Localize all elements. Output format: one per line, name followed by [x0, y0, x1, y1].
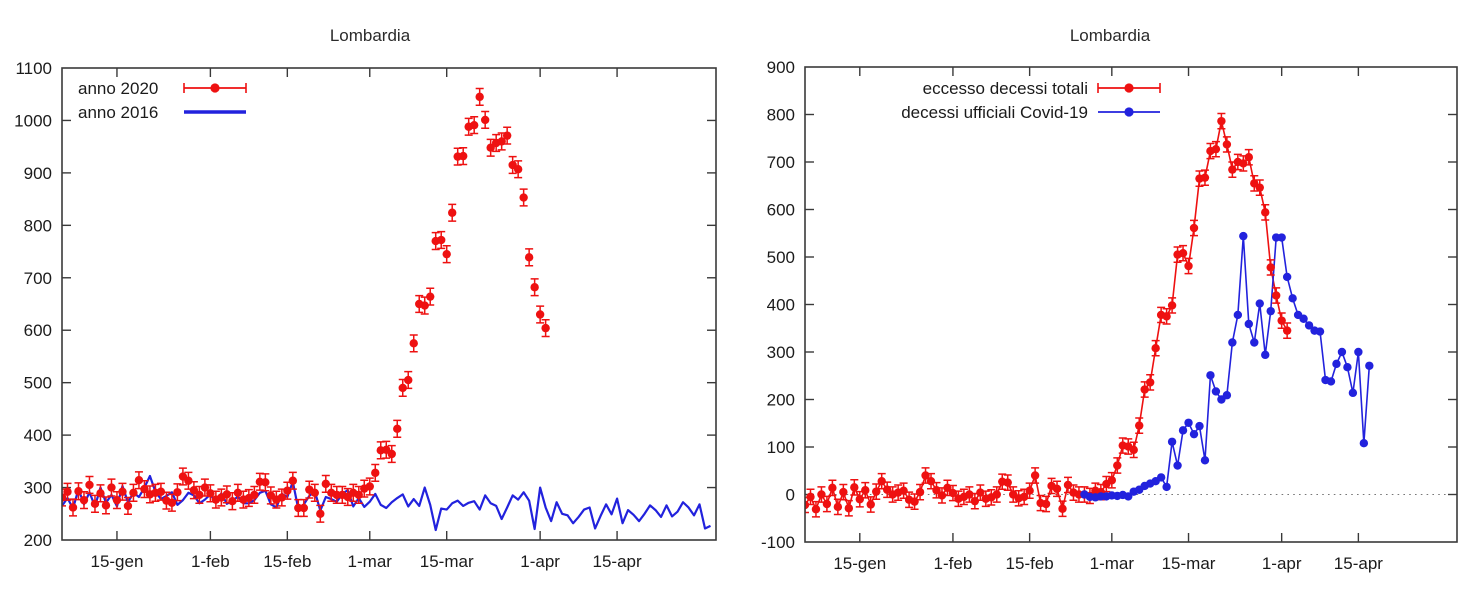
data-point — [1288, 294, 1296, 302]
data-point — [1365, 362, 1373, 370]
x-tick-label: 15-mar — [420, 552, 474, 571]
data-point — [1261, 208, 1269, 216]
x-tick-label: 1-apr — [520, 552, 560, 571]
y-tick-label: 800 — [767, 106, 795, 125]
data-point — [1157, 473, 1165, 481]
data-point — [1201, 173, 1209, 181]
data-point — [867, 500, 875, 508]
chart-panel-right: Lombardia -10001002003004005006007008009… — [740, 0, 1480, 610]
data-point — [261, 478, 269, 486]
data-point — [206, 489, 214, 497]
x-tick-label: 15-gen — [90, 552, 143, 571]
legend-label: anno 2020 — [78, 79, 158, 98]
data-point — [1212, 387, 1220, 395]
data-point — [426, 292, 434, 300]
data-point — [828, 484, 836, 492]
data-point — [129, 489, 137, 497]
data-point — [1179, 249, 1187, 257]
legend-key-marker — [1124, 107, 1133, 116]
data-point — [371, 469, 379, 477]
data-point — [525, 253, 533, 261]
data-point — [366, 482, 374, 490]
data-point — [1256, 299, 1264, 307]
data-point — [1316, 327, 1324, 335]
data-point — [1272, 291, 1280, 299]
data-point — [519, 193, 527, 201]
data-point — [80, 496, 88, 504]
data-point — [1283, 326, 1291, 334]
data-point — [965, 490, 973, 498]
data-point — [1201, 456, 1209, 464]
data-point — [234, 489, 242, 497]
data-point — [1354, 348, 1362, 356]
data-point — [316, 510, 324, 518]
data-point — [823, 500, 831, 508]
data-point — [850, 483, 858, 491]
legend-key-marker — [210, 83, 219, 92]
data-point — [118, 488, 126, 496]
data-point — [536, 310, 544, 318]
plot-area-right: -100010020030040050060070080090015-gen1-… — [740, 0, 1480, 610]
y-tick-label: 500 — [767, 248, 795, 267]
data-point — [437, 236, 445, 244]
data-point — [910, 497, 918, 505]
series-line — [1084, 236, 1369, 497]
data-point — [1349, 389, 1357, 397]
data-point — [184, 477, 192, 485]
data-point — [355, 491, 363, 499]
x-tick-label: 1-mar — [1090, 554, 1135, 573]
data-point — [993, 490, 1001, 498]
data-point — [1151, 344, 1159, 352]
data-point — [834, 503, 842, 511]
y-tick-label: 600 — [24, 321, 52, 340]
data-point — [481, 116, 489, 124]
data-point — [1004, 478, 1012, 486]
data-point — [530, 283, 538, 291]
data-point — [1338, 348, 1346, 356]
legend-key-marker — [1124, 83, 1133, 92]
data-point — [448, 209, 456, 217]
data-point — [470, 121, 478, 129]
y-tick-label: 900 — [767, 58, 795, 77]
data-point — [393, 425, 401, 433]
y-tick-label: 300 — [767, 343, 795, 362]
data-point — [1025, 487, 1033, 495]
y-tick-label: 700 — [24, 269, 52, 288]
data-point — [1277, 233, 1285, 241]
chart-legend: eccesso decessi totalidecessi ufficiali … — [901, 79, 1160, 122]
data-point — [1239, 232, 1247, 240]
data-point — [817, 490, 825, 498]
data-point — [1245, 153, 1253, 161]
data-point — [107, 483, 115, 491]
data-point — [91, 500, 99, 508]
data-point — [1058, 505, 1066, 513]
data-point — [278, 493, 286, 501]
y-tick-label: 300 — [24, 479, 52, 498]
data-point — [1267, 307, 1275, 315]
data-point — [223, 490, 231, 498]
x-tick-label: 15-apr — [593, 552, 642, 571]
y-tick-label: 700 — [767, 153, 795, 172]
data-point — [1173, 461, 1181, 469]
y-tick-label: 1100 — [15, 59, 52, 78]
data-point — [503, 131, 511, 139]
data-point — [1195, 422, 1203, 430]
data-point — [1228, 338, 1236, 346]
data-point — [1179, 426, 1187, 434]
axis-frame — [62, 68, 716, 540]
data-point — [839, 488, 847, 496]
data-point — [85, 481, 93, 489]
data-point — [1108, 476, 1116, 484]
x-tick-label: 1-feb — [191, 552, 230, 571]
y-tick-label: 200 — [767, 391, 795, 410]
y-tick-label: 100 — [767, 438, 795, 457]
data-point — [69, 503, 77, 511]
data-point — [1299, 315, 1307, 323]
data-point — [250, 491, 258, 499]
y-tick-label: 0 — [786, 486, 795, 505]
data-point — [1245, 320, 1253, 328]
data-point — [1168, 301, 1176, 309]
x-tick-label: 15-gen — [833, 554, 886, 573]
data-point — [1042, 500, 1050, 508]
data-point — [878, 477, 886, 485]
series-line — [805, 121, 1287, 509]
data-point — [1031, 471, 1039, 479]
x-tick-label: 15-apr — [1334, 554, 1383, 573]
data-point — [1146, 378, 1154, 386]
data-point — [899, 487, 907, 495]
y-tick-label: 200 — [24, 531, 52, 550]
data-point — [1283, 273, 1291, 281]
data-point — [861, 486, 869, 494]
x-tick-label: 1-feb — [934, 554, 973, 573]
data-point — [124, 502, 132, 510]
data-point — [102, 501, 110, 509]
data-point — [1360, 439, 1368, 447]
data-point — [916, 488, 924, 496]
data-point — [1234, 311, 1242, 319]
data-point — [806, 493, 814, 501]
data-point — [1261, 351, 1269, 359]
data-point — [311, 489, 319, 497]
data-point — [1250, 338, 1258, 346]
dual-chart-figure: Lombardia 200300400500600700800900100011… — [0, 0, 1480, 610]
data-point — [1223, 140, 1231, 148]
data-point — [1267, 263, 1275, 271]
x-tick-label: 15-feb — [1006, 554, 1054, 573]
data-point — [1206, 371, 1214, 379]
chart-legend: anno 2020anno 2016 — [78, 79, 246, 122]
y-tick-label: 500 — [24, 374, 52, 393]
x-tick-label: 1-mar — [348, 552, 393, 571]
data-point — [1343, 363, 1351, 371]
x-tick-label: 15-feb — [263, 552, 311, 571]
data-point — [1190, 430, 1198, 438]
data-point — [1332, 360, 1340, 368]
data-point — [1327, 377, 1335, 385]
data-point — [63, 488, 71, 496]
data-point — [283, 487, 291, 495]
data-point — [514, 165, 522, 173]
x-tick-label: 15-mar — [1162, 554, 1216, 573]
data-point — [856, 495, 864, 503]
y-tick-label: 900 — [24, 164, 52, 183]
data-point — [1168, 438, 1176, 446]
y-tick-label: 400 — [767, 296, 795, 315]
axis-frame — [805, 67, 1457, 542]
series-group — [801, 114, 1374, 517]
data-point — [1190, 224, 1198, 232]
data-point — [927, 477, 935, 485]
chart-panel-left: Lombardia 200300400500600700800900100011… — [0, 0, 740, 610]
data-point — [1130, 446, 1138, 454]
legend-label: anno 2016 — [78, 103, 158, 122]
legend-label: decessi ufficiali Covid-19 — [901, 103, 1088, 122]
legend-label: eccesso decessi totali — [923, 79, 1088, 98]
series-group — [58, 88, 711, 530]
plot-area-left: 2003004005006007008009001000110015-gen1-… — [0, 0, 740, 610]
data-point — [173, 488, 181, 496]
data-point — [1223, 391, 1231, 399]
y-tick-label: 400 — [24, 426, 52, 445]
y-tick-label: 600 — [767, 201, 795, 220]
data-point — [1212, 145, 1220, 153]
data-point — [195, 491, 203, 499]
data-point — [541, 324, 549, 332]
data-point — [1113, 461, 1121, 469]
data-point — [410, 339, 418, 347]
data-point — [459, 152, 467, 160]
data-point — [1162, 483, 1170, 491]
data-point — [300, 504, 308, 512]
data-point — [1135, 421, 1143, 429]
data-point — [404, 376, 412, 384]
y-tick-label: -100 — [761, 533, 795, 552]
data-point — [1053, 485, 1061, 493]
data-point — [812, 505, 820, 513]
data-point — [388, 450, 396, 458]
data-point — [443, 250, 451, 258]
data-point — [1217, 117, 1225, 125]
data-point — [168, 499, 176, 507]
x-tick-label: 1-apr — [1262, 554, 1302, 573]
data-point — [1184, 262, 1192, 270]
data-point — [971, 497, 979, 505]
data-point — [845, 504, 853, 512]
data-point — [475, 93, 483, 101]
data-point — [1184, 419, 1192, 427]
data-point — [1256, 183, 1264, 191]
data-point — [289, 477, 297, 485]
y-tick-label: 1000 — [14, 111, 52, 130]
y-tick-label: 800 — [24, 216, 52, 235]
